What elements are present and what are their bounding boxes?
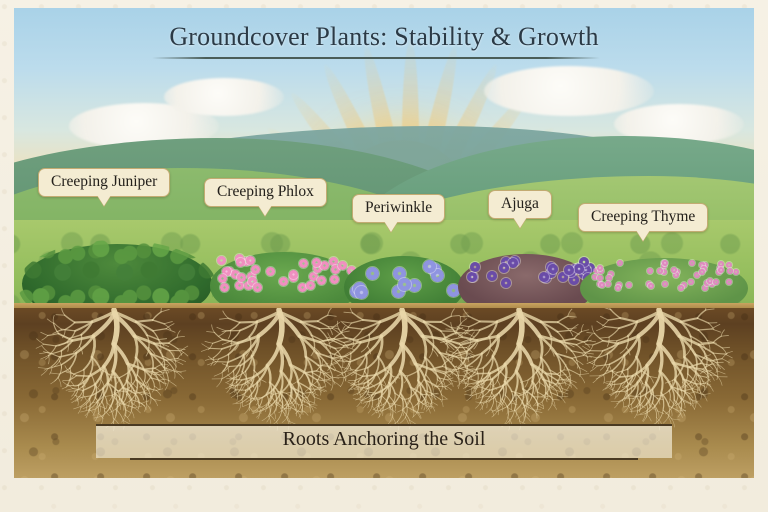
flower — [253, 283, 262, 292]
flower — [298, 283, 307, 292]
flower — [606, 275, 612, 281]
plant-creeping-juniper — [22, 244, 212, 310]
flower — [236, 258, 245, 267]
flower — [266, 267, 275, 276]
flower — [726, 262, 732, 268]
plant-label-periwinkle[interactable]: Periwinkle — [352, 194, 445, 223]
flower — [699, 269, 705, 275]
flower — [597, 275, 603, 281]
callout-tail — [636, 230, 650, 241]
cloud — [484, 66, 654, 116]
flower — [689, 260, 695, 266]
plant-ajuga — [458, 254, 594, 308]
flower — [662, 260, 668, 266]
flower — [648, 283, 654, 289]
flower — [312, 258, 321, 267]
flower — [599, 282, 605, 288]
flower — [688, 279, 694, 285]
flower — [487, 271, 497, 281]
callout-tail — [258, 205, 272, 216]
plant-label-text: Creeping Phlox — [217, 183, 314, 200]
plant-label-ajuga[interactable]: Ajuga — [488, 190, 552, 219]
flower — [662, 281, 668, 287]
plant-periwinkle — [344, 256, 464, 308]
flower — [237, 273, 246, 282]
flower — [279, 277, 288, 286]
flower — [338, 261, 347, 270]
poster-canvas: Groundcover Plants: Stability & Growth C… — [0, 0, 768, 512]
flower — [548, 264, 558, 274]
plant-label-creeping-thyme[interactable]: Creeping Thyme — [578, 203, 708, 232]
plant-label-text: Creeping Juniper — [51, 173, 157, 190]
caption-rule-top — [96, 424, 672, 426]
page-title: Groundcover Plants: Stability & Growth — [0, 22, 768, 52]
flower — [246, 256, 255, 265]
flower — [355, 286, 368, 299]
callout-tail — [97, 195, 111, 206]
plant-creeping-thyme — [580, 258, 748, 308]
callout-tail — [513, 217, 527, 228]
plant-label-creeping-phlox[interactable]: Creeping Phlox — [204, 178, 327, 207]
title-underline — [152, 57, 600, 59]
plant-label-text: Creeping Thyme — [591, 208, 695, 225]
flower — [726, 279, 732, 285]
watercolor-artwork — [14, 8, 754, 478]
plant-label-text: Ajuga — [501, 195, 539, 212]
callout-tail — [384, 221, 398, 232]
flower — [678, 285, 684, 291]
flower — [617, 260, 623, 266]
flower — [615, 285, 621, 291]
flower — [366, 267, 379, 280]
plant-label-creeping-juniper[interactable]: Creeping Juniper — [38, 168, 170, 197]
flower — [707, 278, 713, 284]
flower — [470, 262, 480, 272]
plant-label-text: Periwinkle — [365, 199, 432, 216]
flower — [713, 279, 719, 285]
flower — [218, 274, 227, 283]
flower — [317, 276, 326, 285]
flower — [605, 281, 611, 287]
flower — [718, 261, 724, 267]
flower — [306, 281, 315, 290]
flower — [220, 283, 229, 292]
caption-rule-bottom — [130, 458, 638, 460]
flower — [718, 267, 724, 273]
flower — [501, 278, 511, 288]
flower — [626, 282, 632, 288]
flower — [330, 275, 339, 284]
flower — [647, 268, 653, 274]
plant-row — [14, 240, 754, 312]
flower — [508, 258, 518, 268]
flower — [574, 264, 584, 274]
cloud — [164, 78, 284, 116]
root-system — [36, 308, 188, 431]
flower — [733, 269, 739, 275]
root-system — [583, 308, 733, 430]
flower — [423, 260, 436, 273]
flower — [499, 263, 509, 273]
flower — [299, 259, 308, 268]
flower — [657, 268, 663, 274]
caption-text: Roots Anchoring the Soil — [0, 428, 768, 451]
root-system — [201, 308, 354, 430]
flower — [398, 278, 411, 291]
flower — [217, 256, 226, 265]
flower — [251, 265, 260, 274]
flower — [289, 270, 298, 279]
root-system — [324, 308, 479, 430]
plant-creeping-phlox — [210, 252, 358, 308]
